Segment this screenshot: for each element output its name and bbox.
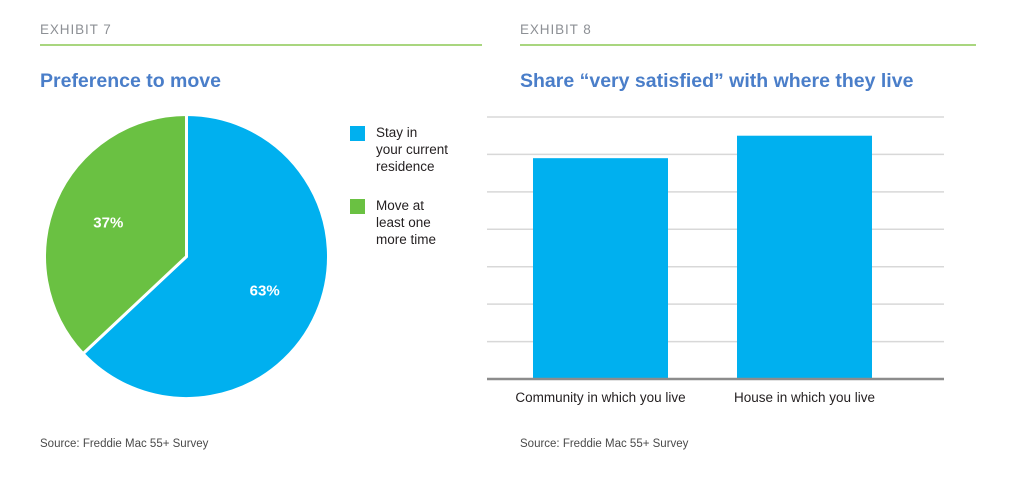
pie-chart: 63% 37% [43, 113, 330, 400]
bar-chart-svg: 0%10%20%30%40%50%60%70% Community in whi… [482, 0, 1024, 496]
legend-item-0[interactable]: Stay in your current residence [350, 124, 470, 175]
legend-item-1[interactable]: Move at least one more time [350, 197, 470, 248]
legend-swatch-blue-icon [350, 126, 365, 141]
x-axis-tick-label: Community in which you live [515, 390, 685, 405]
pie-svg: 63% 37% [43, 113, 330, 400]
pie-slice-label-blue: 63% [250, 282, 280, 299]
exhibit-7-rule [40, 44, 482, 46]
exhibit-7-panel: EXHIBIT 7 Preference to move 63% 37% Sta… [0, 0, 482, 496]
exhibit-8-source: Source: Freddie Mac 55+ Survey [520, 438, 688, 450]
bar-chart: 0%10%20%30%40%50%60%70% Community in whi… [482, 0, 1024, 496]
legend-swatch-green-icon [350, 199, 365, 214]
bar-1[interactable] [737, 136, 872, 379]
x-axis-ticks: Community in which you liveHouse in whic… [515, 390, 875, 405]
exhibit-8-panel: EXHIBIT 8 Share “very satisfied” with wh… [482, 0, 1024, 496]
bar-0[interactable] [533, 158, 668, 379]
pie-legend: Stay in your current residence Move at l… [350, 124, 470, 270]
pie-slice-label-green: 37% [93, 215, 123, 232]
x-axis-tick-label: House in which you live [734, 390, 875, 405]
exhibit-7-source: Source: Freddie Mac 55+ Survey [40, 438, 208, 450]
exhibit-7-title: Preference to move [40, 70, 221, 93]
bars [533, 136, 872, 379]
legend-label-0: Stay in your current residence [376, 124, 448, 175]
exhibits-page: EXHIBIT 7 Preference to move 63% 37% Sta… [0, 0, 1024, 496]
legend-label-1: Move at least one more time [376, 197, 436, 248]
exhibit-7-label: EXHIBIT 7 [40, 22, 112, 37]
